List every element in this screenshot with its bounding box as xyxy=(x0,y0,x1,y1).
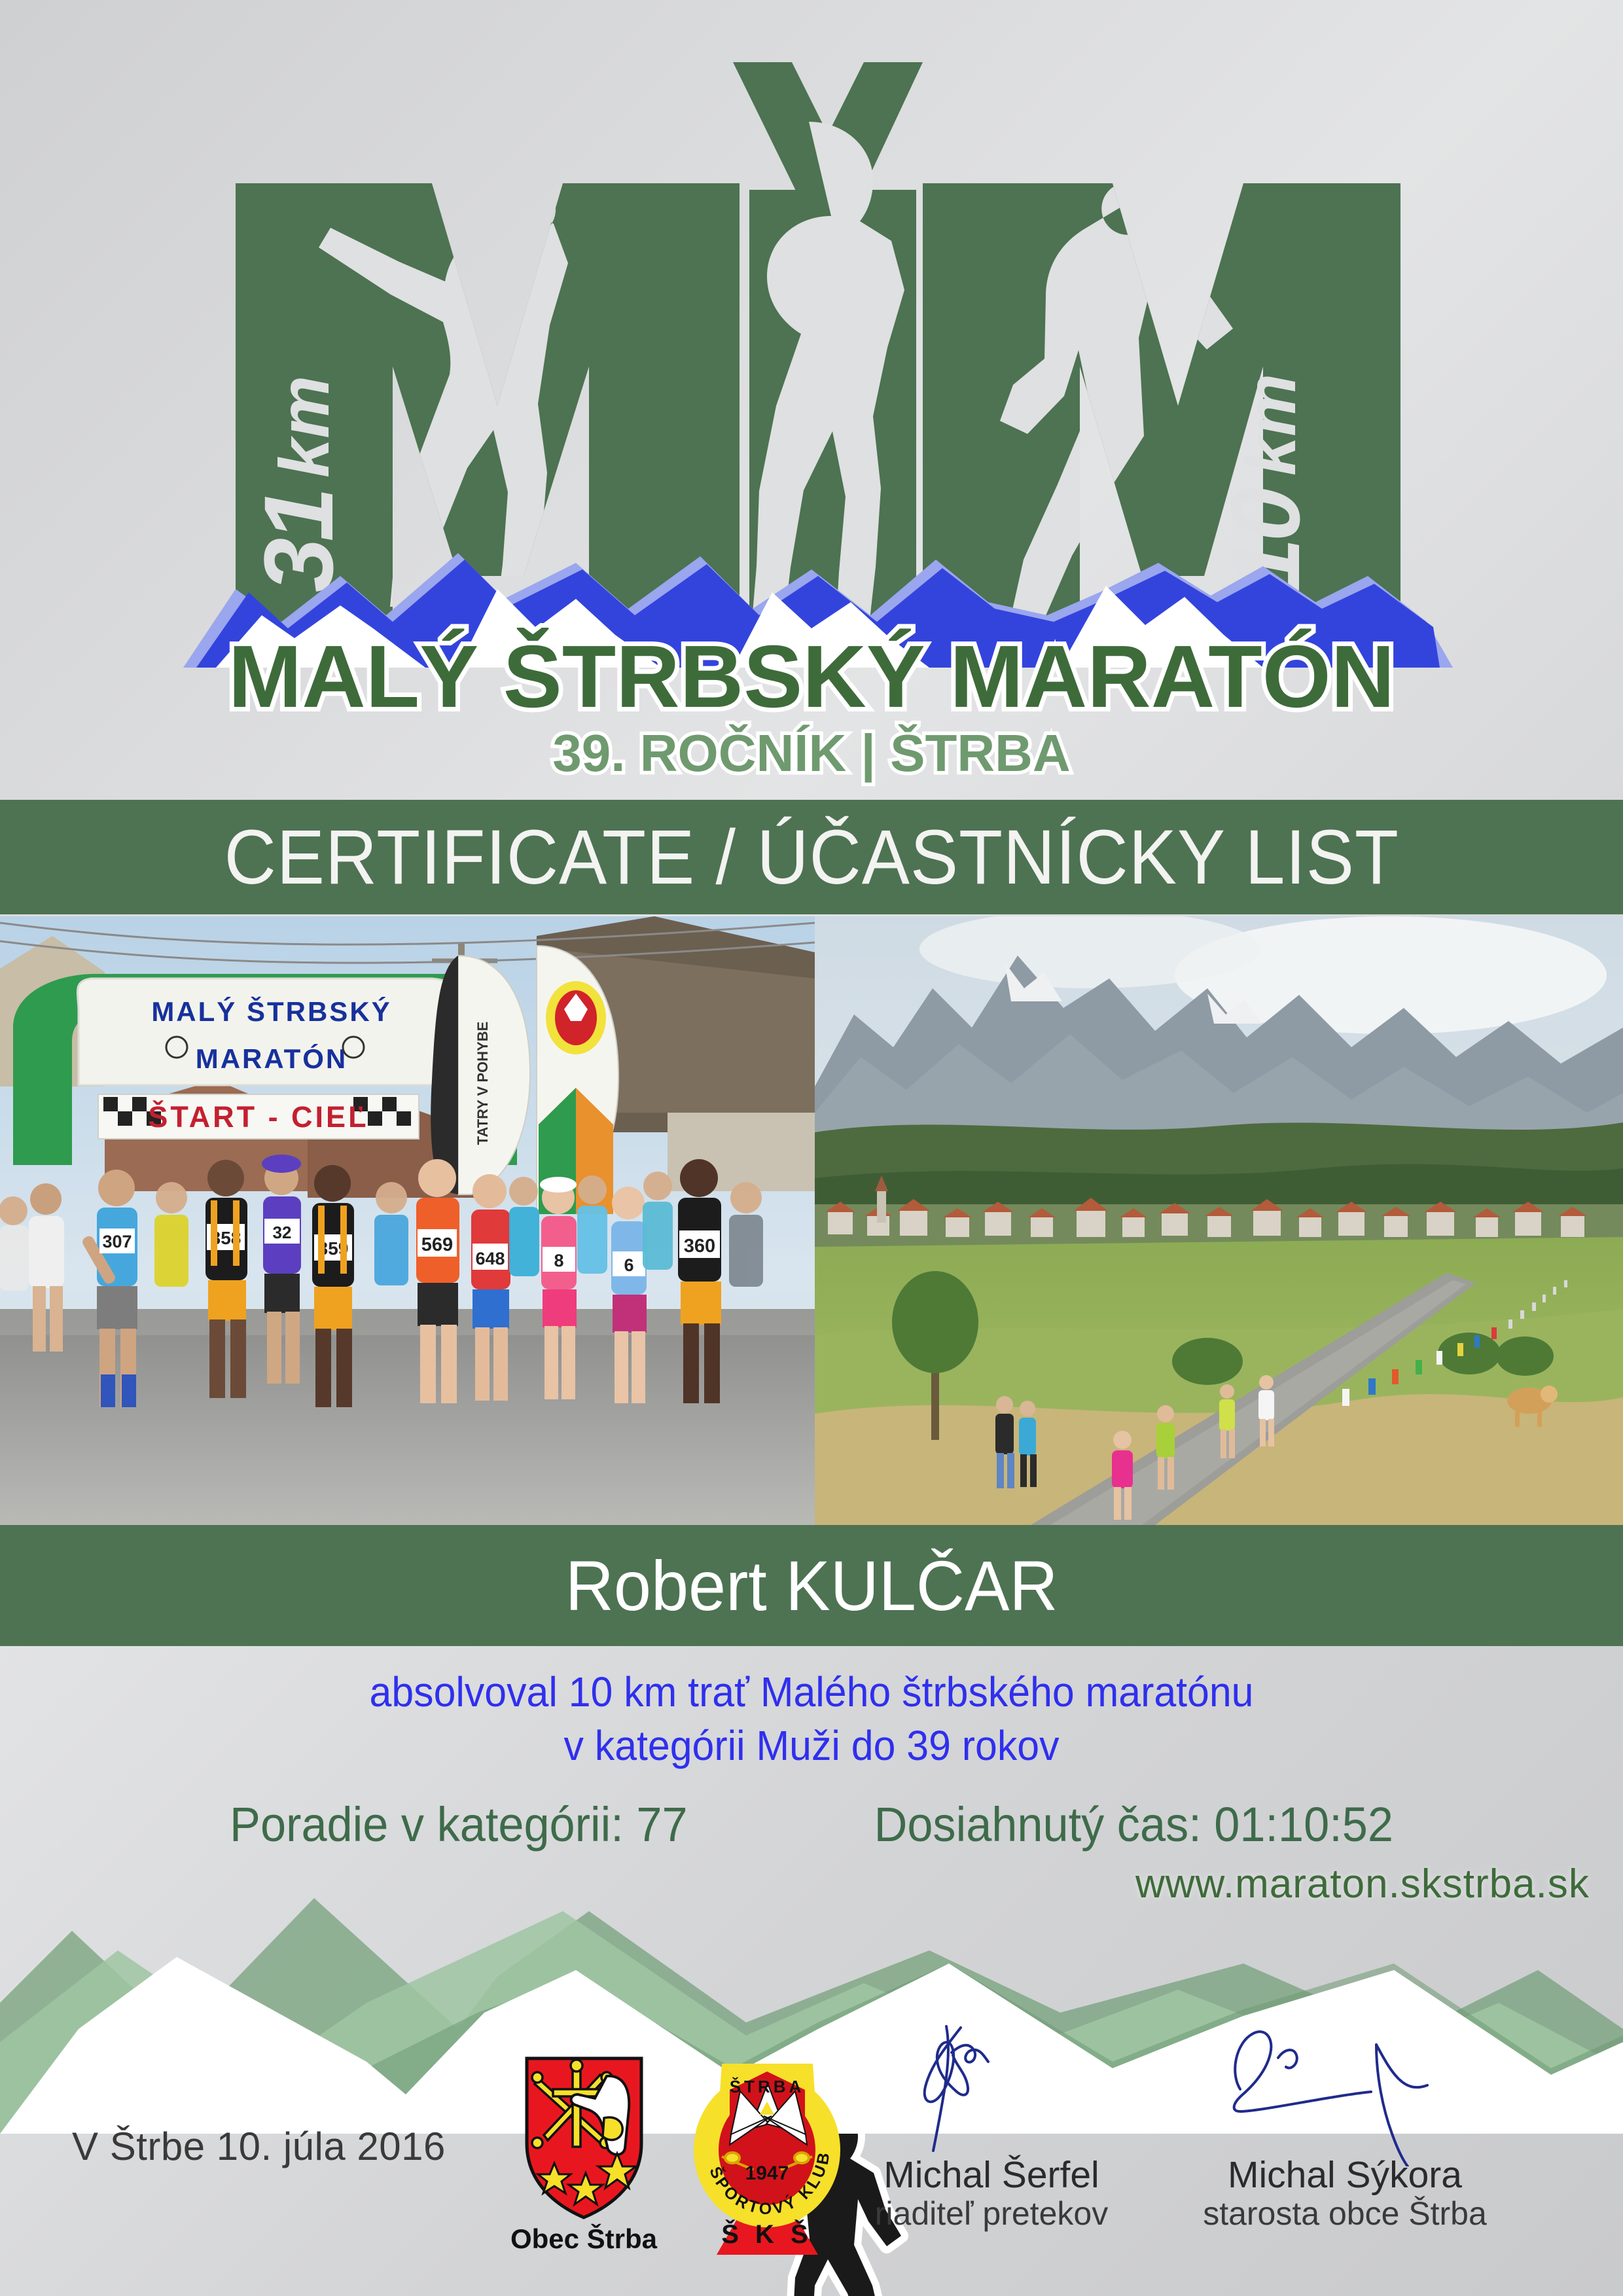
description-line-2: v kategórii Muži do 39 rokov xyxy=(41,1719,1582,1773)
category-rank-label: Poradie v kategórii: xyxy=(230,1797,624,1852)
results-row: Poradie v kategórii: 77 Dosiahnutý čas: … xyxy=(41,1797,1582,1852)
description-line-1: absolvoval 10 km trať Malého štrbského m… xyxy=(41,1666,1582,1719)
certificate-title-band: CERTIFICATE / ÚČASTNÍCKY LIST xyxy=(0,800,1623,914)
arch-line-2: MARATÓN xyxy=(196,1043,348,1074)
certificate-page: 31 km 10 km MALÝ xyxy=(0,0,1623,2296)
signature-mark-sykora xyxy=(1221,2016,1469,2166)
arch-line-1: MALÝ ŠTRBSKÝ xyxy=(151,996,391,1027)
sks-club-logo: ŠTRBA 1947 ŠPORTOVÝ KLUB Š K Š xyxy=(690,2058,844,2258)
edition-text: 39. ROČNÍK | ŠTRBA xyxy=(552,724,1070,783)
svg-text:km: km xyxy=(1231,374,1310,476)
issue-date: V Štrbe 10. júla 2016 xyxy=(72,2124,446,2169)
photo-strip: MALÝ ŠTRBSKÝ MARATÓN ŠTART - CIEĽ TATRY … xyxy=(0,916,1623,1525)
signature-mark-serfel xyxy=(883,2016,1099,2166)
flag-text: TATRY V POHYBE xyxy=(474,1022,491,1145)
participant-name: Robert KULČAR xyxy=(565,1545,1058,1626)
svg-text:569: 569 xyxy=(421,1234,453,1255)
signature-role-director: riaditeľ pretekov xyxy=(851,2195,1132,2233)
signature-mayor: Michal Sýkora starosta obce Štrba xyxy=(1198,2016,1492,2233)
start-finish-banner: ŠTART - CIEĽ xyxy=(148,1100,368,1134)
event-logo: 31 km 10 km MALÝ xyxy=(0,0,1623,795)
finish-time-label: Dosiahnutý čas: xyxy=(874,1797,1202,1852)
svg-text:8: 8 xyxy=(554,1251,563,1270)
signature-race-director: Michal Šerfel riaditeľ pretekov xyxy=(851,2016,1132,2233)
svg-text:31: 31 xyxy=(243,491,353,592)
participant-name-band: Robert KULČAR xyxy=(0,1525,1623,1646)
finish-time-value: 01:10:52 xyxy=(1214,1797,1393,1852)
certificate-title: CERTIFICATE / ÚČASTNÍCKY LIST xyxy=(224,813,1399,902)
svg-text:km: km xyxy=(264,376,344,478)
signature-name-mayor: Michal Sýkora xyxy=(1198,2156,1492,2195)
club-year: 1947 xyxy=(745,2162,789,2184)
event-name-text: MALÝ ŠTRBSKÝ MARATÓN xyxy=(228,627,1395,726)
photo-course-landscape xyxy=(815,916,1623,1525)
coat-of-arms-caption: Obec Štrba xyxy=(510,2223,658,2254)
club-abbrev: Š K Š xyxy=(721,2219,812,2249)
finish-time: Dosiahnutý čas: 01:10:52 xyxy=(874,1797,1393,1852)
svg-text:648: 648 xyxy=(475,1249,505,1268)
signature-role-mayor: starosta obce Štrba xyxy=(1198,2195,1492,2233)
category-rank: Poradie v kategórii: 77 xyxy=(230,1797,688,1852)
club-top-text: ŠTRBA xyxy=(730,2077,805,2096)
achievement-description: absolvoval 10 km trať Malého štrbského m… xyxy=(41,1666,1582,1773)
obec-strba-coat-of-arms: Obec Štrba xyxy=(507,2049,671,2265)
logo-graphic: 31 km 10 km MALÝ xyxy=(0,0,1623,795)
svg-text:360: 360 xyxy=(684,1236,715,1257)
category-rank-value: 77 xyxy=(636,1797,687,1852)
svg-text:307: 307 xyxy=(102,1232,132,1251)
photo-race-start: MALÝ ŠTRBSKÝ MARATÓN ŠTART - CIEĽ TATRY … xyxy=(0,916,815,1525)
svg-text:6: 6 xyxy=(624,1255,633,1275)
signature-name-director: Michal Šerfel xyxy=(851,2156,1132,2195)
svg-text:32: 32 xyxy=(273,1223,292,1242)
